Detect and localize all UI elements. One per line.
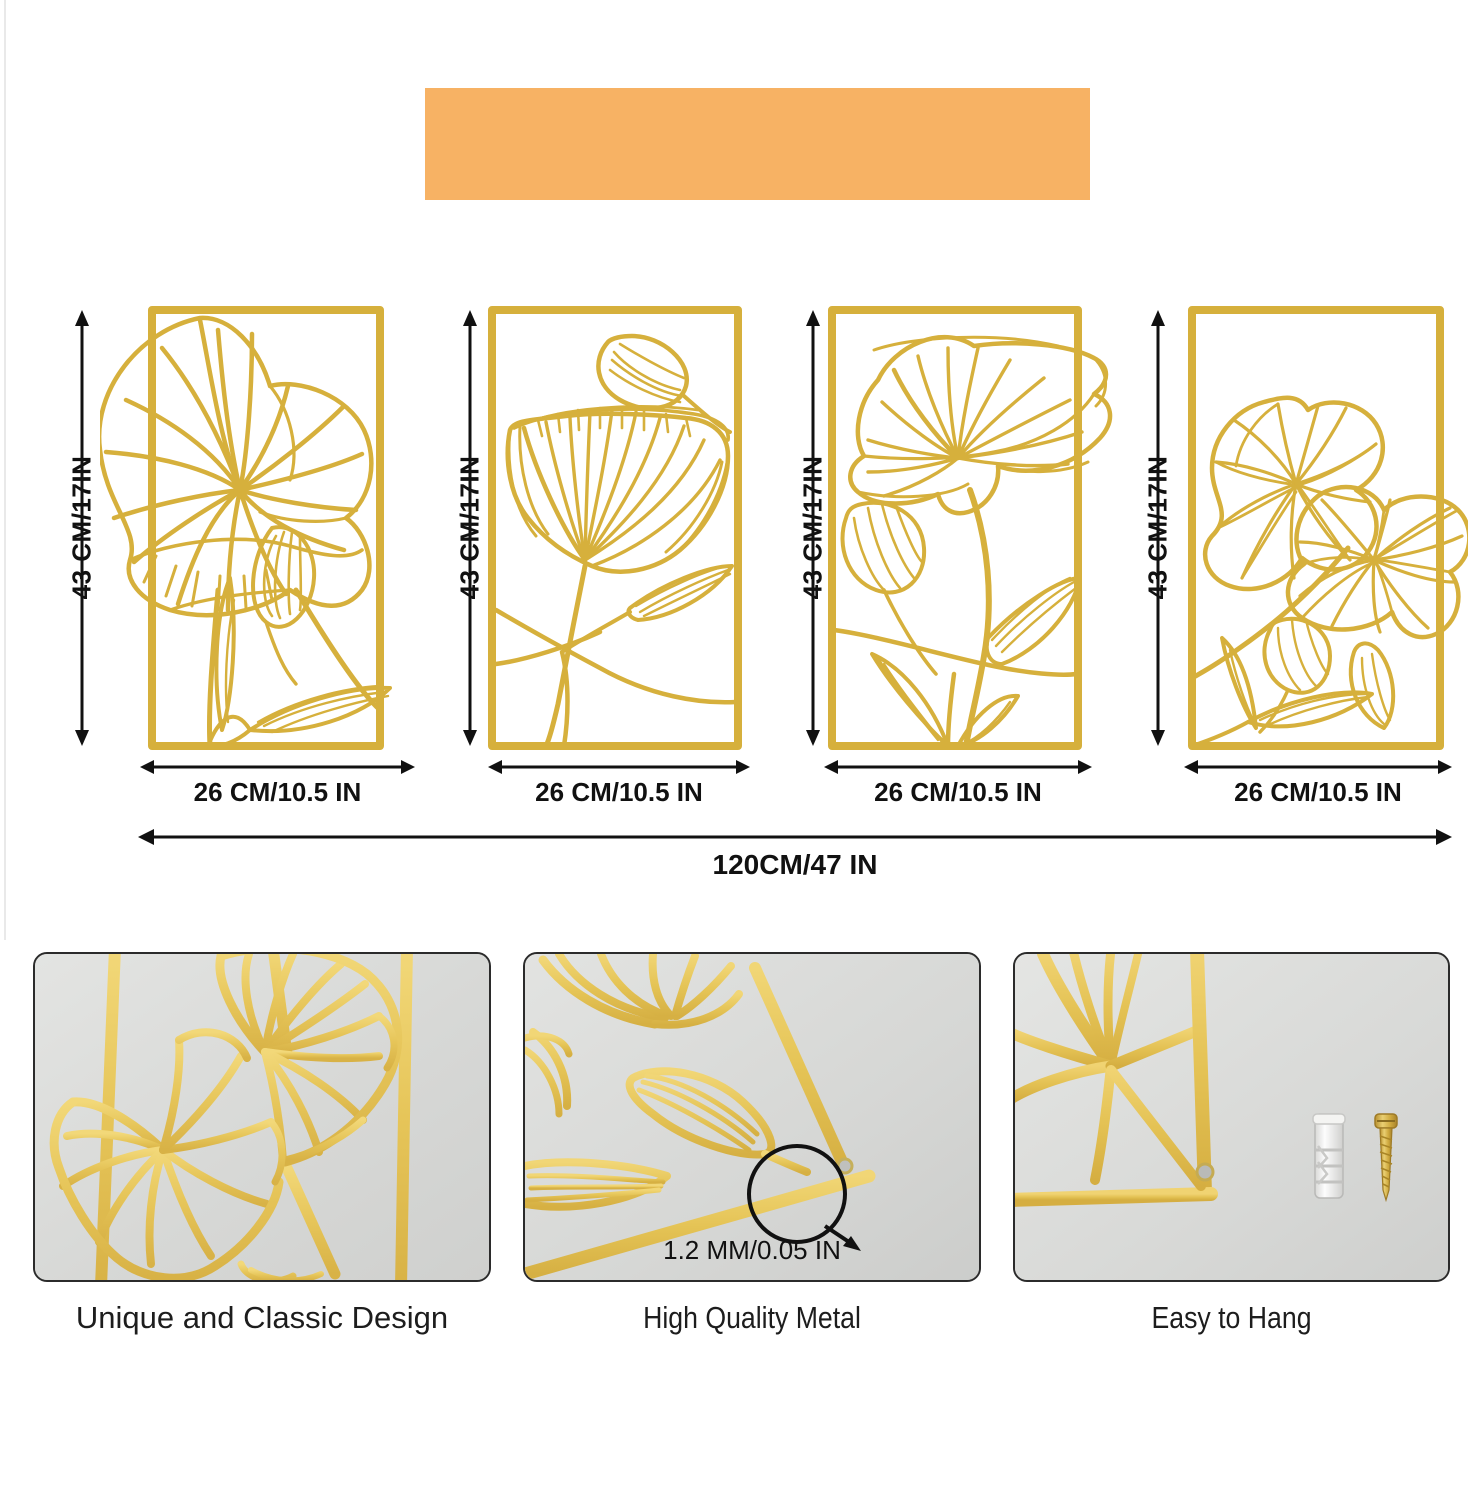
panel-3-height-dimension: 43 CM/17IN xyxy=(783,310,823,746)
panel-4-artwork xyxy=(1178,260,1468,760)
feature-design-caption: Unique and Classic Design xyxy=(33,1300,491,1336)
panel-3 xyxy=(818,260,1118,760)
feature-photos: Unique and Classic Design xyxy=(0,952,1479,1372)
panel-1-height-label: 43 CM/17IN xyxy=(67,428,98,628)
wall-anchor-illustration xyxy=(1313,1114,1345,1198)
width-arrow-icon xyxy=(488,755,750,779)
feature-hang-caption: Easy to Hang xyxy=(1044,1300,1420,1336)
photo-easy-to-hang-image xyxy=(1015,954,1448,1280)
photo-easy-to-hang xyxy=(1013,952,1450,1282)
panel-4-width-dimension: 26 CM/10.5 IN xyxy=(1184,755,1452,815)
total-width-arrow-icon xyxy=(138,825,1452,849)
panel-1-width-label: 26 CM/10.5 IN xyxy=(140,777,415,808)
panel-4 xyxy=(1178,260,1468,760)
panel-1-width-dimension: 26 CM/10.5 IN xyxy=(140,755,415,815)
panel-4-height-dimension: 43 CM/17IN xyxy=(1128,310,1168,746)
feature-hang: Easy to Hang xyxy=(1013,952,1450,1282)
product-size-banner: Product size xyxy=(425,88,1090,200)
panel-4-width-label: 26 CM/10.5 IN xyxy=(1184,777,1452,808)
size-diagram: 43 CM/17IN xyxy=(0,260,1479,900)
panel-2-height-dimension: 43 CM/17IN xyxy=(440,310,480,746)
panel-2 xyxy=(480,260,760,760)
panel-4-height-label: 43 CM/17IN xyxy=(1143,428,1174,628)
panel-3-width-label: 26 CM/10.5 IN xyxy=(824,777,1092,808)
photo-high-quality-metal-image xyxy=(525,954,979,1280)
panel-1-artwork xyxy=(100,260,430,760)
panel-1 xyxy=(100,260,430,760)
feature-design: Unique and Classic Design xyxy=(33,952,491,1282)
photo-unique-design xyxy=(33,952,491,1282)
panel-2-artwork xyxy=(480,260,760,760)
banner-background xyxy=(425,88,1090,200)
panel-2-width-label: 26 CM/10.5 IN xyxy=(488,777,750,808)
total-width-label: 120CM/47 IN xyxy=(138,849,1452,881)
product-size-infographic: Product size 43 CM/17IN xyxy=(0,0,1479,1500)
total-width-dimension: 120CM/47 IN xyxy=(138,825,1452,895)
feature-metal-caption: High Quality Metal xyxy=(555,1300,949,1336)
panel-3-artwork xyxy=(818,260,1118,760)
feature-metal: 1.2 MM/0.05 IN High Quality Metal xyxy=(523,952,981,1282)
width-arrow-icon xyxy=(140,755,415,779)
panel-3-width-dimension: 26 CM/10.5 IN xyxy=(824,755,1092,815)
photo-unique-design-image xyxy=(35,954,489,1280)
thickness-callout-label: 1.2 MM/0.05 IN xyxy=(525,1235,979,1266)
width-arrow-icon xyxy=(824,755,1092,779)
panel-1-height-dimension: 43 CM/17IN xyxy=(52,310,92,746)
photo-high-quality-metal: 1.2 MM/0.05 IN xyxy=(523,952,981,1282)
panel-2-width-dimension: 26 CM/10.5 IN xyxy=(488,755,750,815)
width-arrow-icon xyxy=(1184,755,1452,779)
